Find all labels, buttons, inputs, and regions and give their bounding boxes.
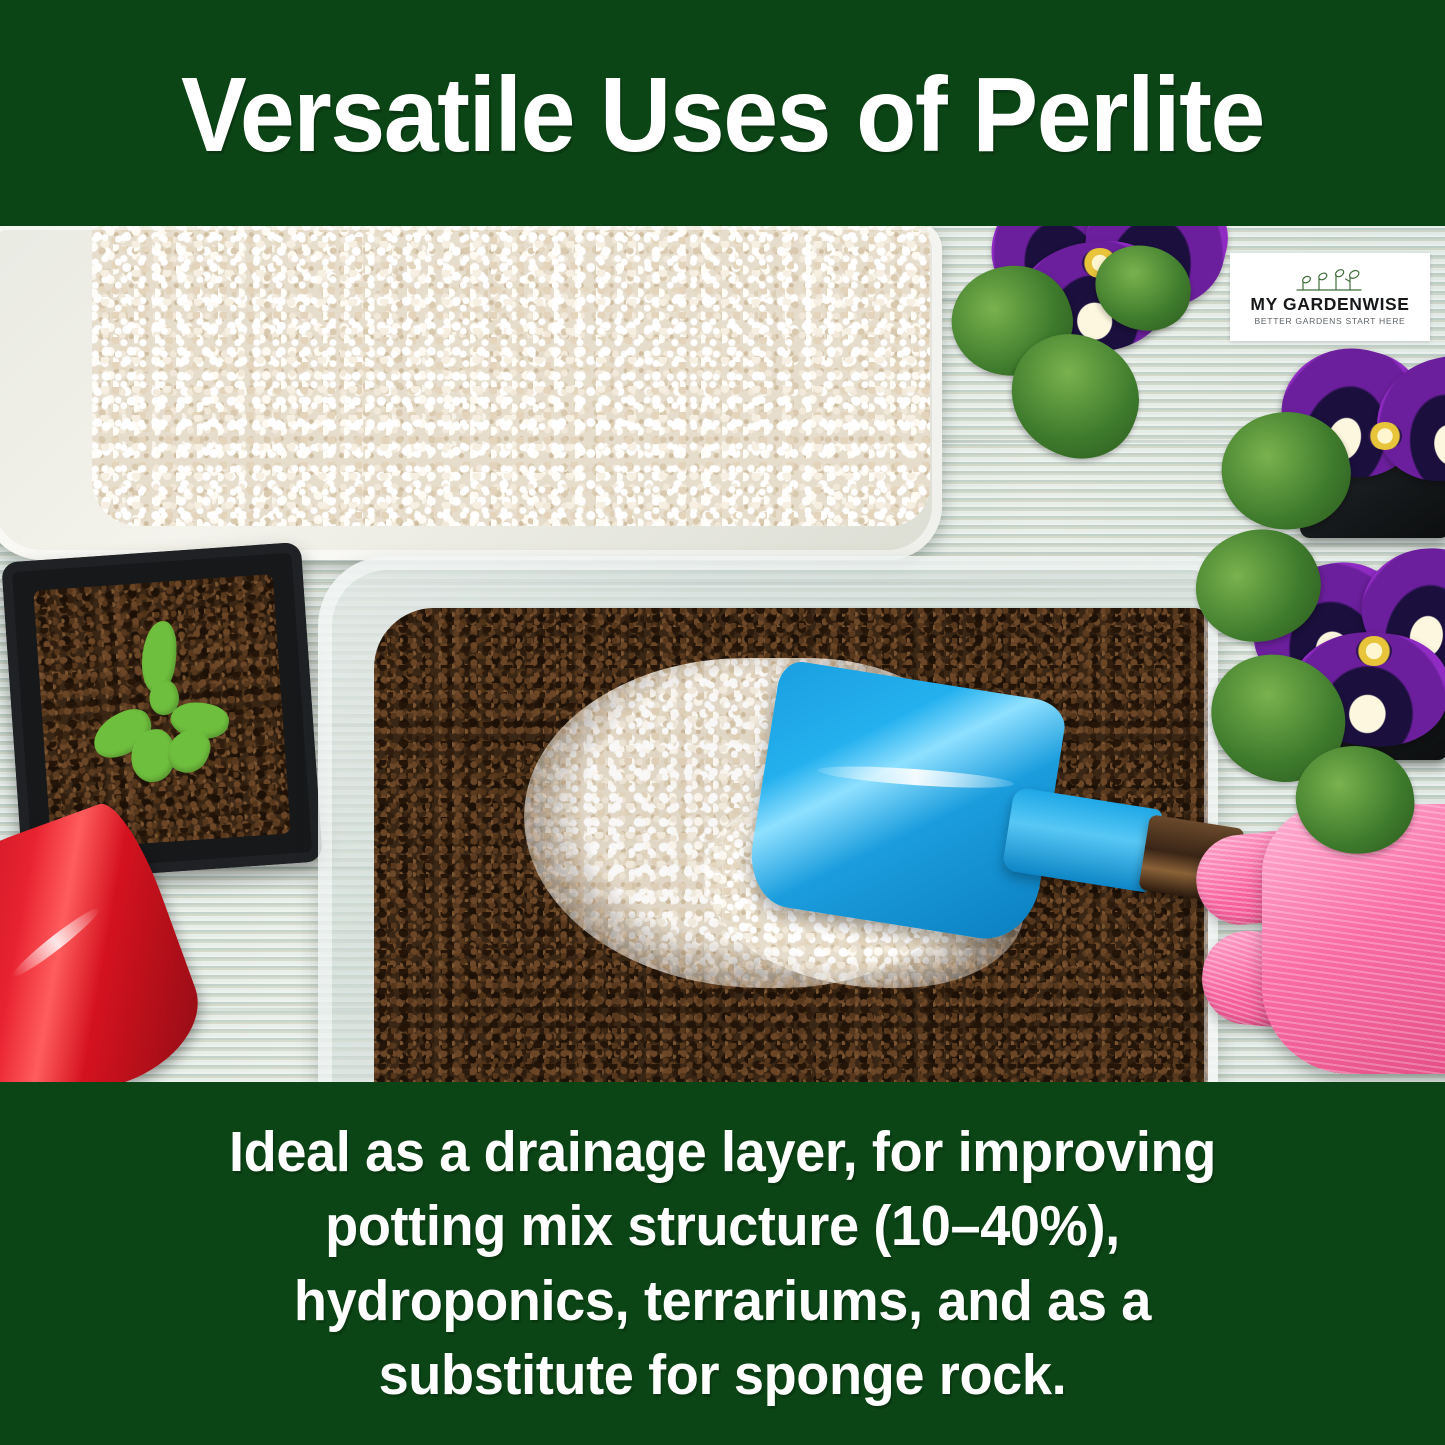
perlite-granules — [92, 226, 930, 526]
brand-logo[interactable]: MY GARDENWISE BETTER GARDENS START HERE — [1230, 253, 1430, 341]
logo-name: MY GARDENWISE — [1250, 295, 1409, 313]
caption-text: Ideal as a drainage layer, for improving… — [163, 1115, 1283, 1411]
perlite-tray — [0, 226, 942, 560]
photo-area — [0, 226, 1445, 1082]
page-title: Versatile Uses of Perlite — [51, 62, 1395, 168]
caption-band: Ideal as a drainage layer, for improving… — [0, 1082, 1445, 1445]
infographic-card: Versatile Uses of Perlite MY GARDENWISE … — [0, 0, 1445, 1445]
logo-tagline: BETTER GARDENS START HERE — [1255, 316, 1406, 326]
red-trowel-highlight — [8, 903, 104, 982]
header-band: Versatile Uses of Perlite — [0, 0, 1445, 226]
trowel-highlight — [817, 762, 1015, 792]
sprout-icon — [1295, 268, 1365, 294]
seedling-soil — [33, 574, 291, 850]
